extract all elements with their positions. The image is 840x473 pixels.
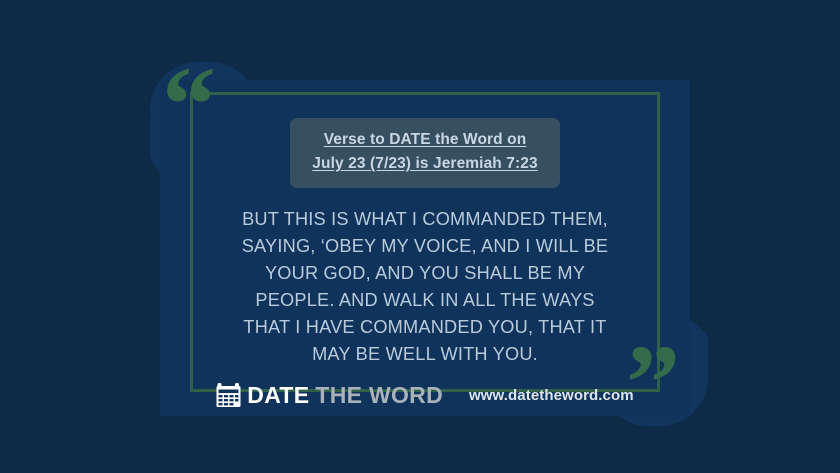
verse-line: YOUR GOD, AND YOU SHALL BE MY (215, 260, 635, 287)
brand-name-secondary: THE WORD (315, 382, 443, 409)
verse-text: BUT THIS IS WHAT I COMMANDED THEM, SAYIN… (215, 206, 635, 368)
brand-name-primary: DATE (247, 382, 309, 409)
verse-header-line-2: July 23 (7/23) is Jeremiah 7:23 (312, 152, 537, 176)
website-url[interactable]: www.datetheword.com (469, 387, 634, 404)
card-footer: DATE THE WORD www.datetheword.com (216, 382, 633, 409)
verse-line: MAY BE WELL WITH YOU. (215, 341, 635, 368)
card-content: Verse to DATE the Word on July 23 (7/23)… (196, 104, 654, 382)
verse-line: PEOPLE. AND WALK IN ALL THE WAYS (215, 287, 635, 314)
calendar-icon (216, 382, 241, 408)
verse-line: SAYING, ‘OBEY MY VOICE, AND I WILL BE (215, 233, 635, 260)
verse-card-canvas: “ ” Verse to DATE the Word on July 23 (7… (0, 0, 840, 473)
verse-line: BUT THIS IS WHAT I COMMANDED THEM, (215, 206, 635, 233)
verse-header-line-1: Verse to DATE the Word on (312, 128, 537, 152)
verse-line: THAT I HAVE COMMANDED YOU, THAT IT (215, 314, 635, 341)
brand-logo: DATE THE WORD (216, 382, 443, 409)
verse-header-chip: Verse to DATE the Word on July 23 (7/23)… (290, 118, 559, 188)
